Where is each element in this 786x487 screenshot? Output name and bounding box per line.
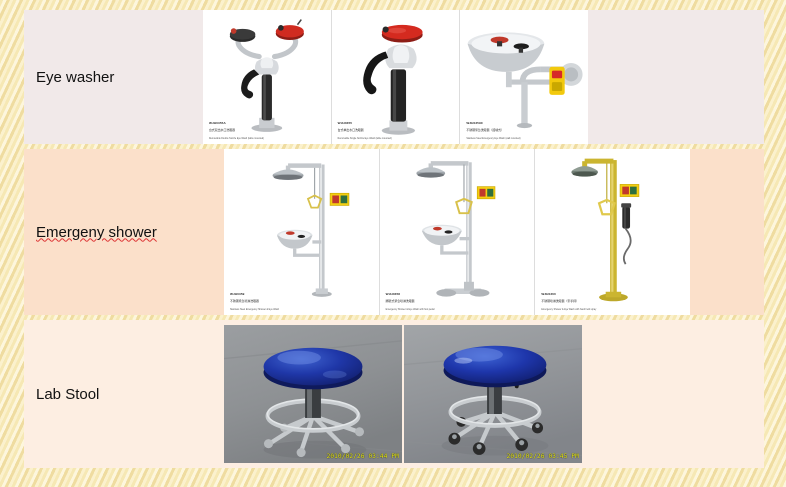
product-code: WJH0360 xyxy=(541,292,555,296)
product-name-en: Emergency Shower & Eye Wash with foot pe… xyxy=(386,309,435,311)
table-row-eye-washer: Eye washer xyxy=(24,10,764,144)
product-name-en: Removable Single Nozzle Eye Wash (table … xyxy=(338,138,392,140)
product-name-en: Stainless Steel Emergency Shower & Eye W… xyxy=(230,309,279,311)
product-name-en: Emergency Shower & Eye Wash with hand he… xyxy=(541,309,596,311)
photo-lab-stool-casters: 2010/02/26 03:45 PM xyxy=(404,325,582,463)
blue-lab-stool-casters-photo xyxy=(404,325,582,463)
product-caption: WJH0358 脚踏式紧急喷淋洗眼器 Emergency Shower & Ey… xyxy=(386,289,435,312)
product-caption: WJH0355A 台式双出水口洗眼器 Removable Double Nozz… xyxy=(209,118,264,141)
product-code: WJH0355 xyxy=(338,121,352,125)
product-code: WJH0358 xyxy=(386,292,400,296)
photo-timestamp: 2010/02/26 03:45 PM xyxy=(507,453,579,460)
product-name-cn: 不锈钢紧急洗眼器（挂墙式） xyxy=(466,128,504,132)
row-content-lab-stool: 2010/02/26 03:44 PM xyxy=(204,320,764,468)
row-label-text: Lab Stool xyxy=(36,386,99,403)
row-label-eye-washer: Eye washer xyxy=(24,10,204,144)
product-name-cn: 台式双出水口洗眼器 xyxy=(209,128,235,132)
product-name-cn: 不锈钢喷淋洗眼器（带手持） xyxy=(541,299,579,303)
product-code: WJH0359 xyxy=(230,292,244,296)
product-name-en: Removable Double Nozzle Eye Wash (table … xyxy=(209,138,264,140)
table-row-emergency-shower: Emergeny shower xyxy=(24,149,764,315)
eyewash-product-strip: WJH0355A 台式双出水口洗眼器 Removable Double Nozz… xyxy=(203,10,588,144)
product-caption: WJH0360 不锈钢喷淋洗眼器（带手持） Emergency Shower &… xyxy=(541,289,596,312)
product-table: Eye washer xyxy=(24,10,764,468)
blue-lab-stool-photo xyxy=(224,325,402,463)
row-label-text: Emergeny shower xyxy=(36,224,157,241)
product-shower-yellow: WJH0360 不锈钢喷淋洗眼器（带手持） Emergency Shower &… xyxy=(535,149,690,315)
product-code: WJH0359C xyxy=(466,121,483,125)
product-eyewash-wall-mounted: WJH0359C 不锈钢紧急洗眼器（挂墙式） Stainless Steel E… xyxy=(460,10,588,144)
row-label-text: Eye washer xyxy=(36,69,114,86)
product-caption: WJH0359 不锈钢紧急喷淋洗眼器 Stainless Steel Emerg… xyxy=(230,289,279,312)
product-code: WJH0355A xyxy=(209,121,226,125)
product-eyewash-single-nozzle: WJH0355 台式单出水口洗眼器 Removable Single Nozzl… xyxy=(332,10,460,144)
row-content-eye-washer: WJH0355A 台式双出水口洗眼器 Removable Double Nozz… xyxy=(204,10,764,144)
row-content-emergency-shower: WJH0359 不锈钢紧急喷淋洗眼器 Stainless Steel Emerg… xyxy=(204,149,764,315)
photo-lab-stool-footring: 2010/02/26 03:44 PM xyxy=(224,325,402,463)
product-shower-pedal: WJH0358 脚踏式紧急喷淋洗眼器 Emergency Shower & Ey… xyxy=(380,149,535,315)
product-caption: WJH0355 台式单出水口洗眼器 Removable Single Nozzl… xyxy=(338,118,392,141)
product-name-cn: 台式单出水口洗眼器 xyxy=(338,128,364,132)
product-name-en: Stainless Steel Emergency Eye Wash (wall… xyxy=(466,138,520,140)
shower-product-strip: WJH0359 不锈钢紧急喷淋洗眼器 Stainless Steel Emerg… xyxy=(224,149,690,315)
stool-photo-strip: 2010/02/26 03:44 PM xyxy=(224,325,582,463)
slide-canvas: Eye washer xyxy=(0,0,786,487)
photo-timestamp: 2010/02/26 03:44 PM xyxy=(327,453,399,460)
product-name-cn: 不锈钢紧急喷淋洗眼器 xyxy=(230,299,259,303)
row-label-emergency-shower: Emergeny shower xyxy=(24,149,204,315)
product-eyewash-double-nozzle: WJH0355A 台式双出水口洗眼器 Removable Double Nozz… xyxy=(203,10,331,144)
row-label-lab-stool: Lab Stool xyxy=(24,320,204,468)
product-name-cn: 脚踏式紧急喷淋洗眼器 xyxy=(386,299,415,303)
product-caption: WJH0359C 不锈钢紧急洗眼器（挂墙式） Stainless Steel E… xyxy=(466,118,520,141)
product-shower-combination: WJH0359 不锈钢紧急喷淋洗眼器 Stainless Steel Emerg… xyxy=(224,149,379,315)
table-row-lab-stool: Lab Stool xyxy=(24,320,764,468)
